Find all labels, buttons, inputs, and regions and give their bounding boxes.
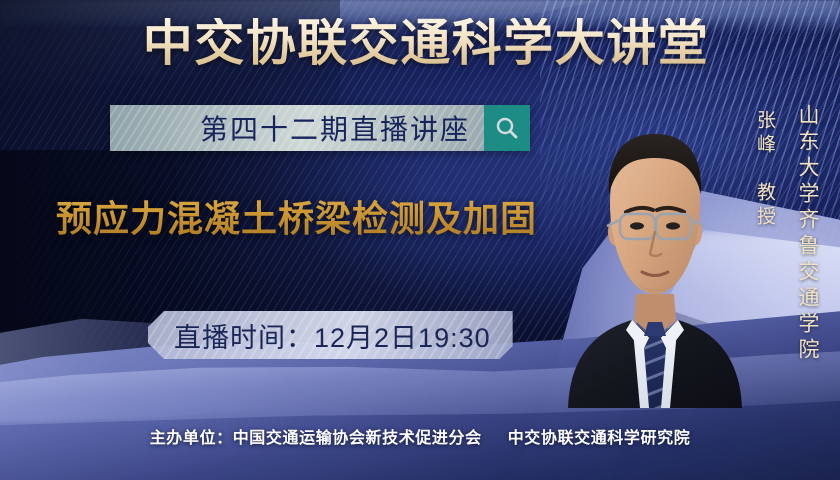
search-button[interactable] xyxy=(484,105,530,151)
lecture-title: 预应力混凝土桥梁检测及加固 xyxy=(56,190,537,242)
footer-organizer: 主办单位：中国交通运输协会新技术促进分会 xyxy=(150,430,482,447)
episode-subtitle-bar: 第四十二期直播讲座 xyxy=(110,105,530,151)
broadcast-time-badge: 直播时间：12月2日19:30 xyxy=(148,311,513,359)
episode-subtitle-label: 第四十二期直播讲座 xyxy=(200,108,484,148)
speaker-name-title: 张峰 教授 xyxy=(751,110,778,230)
broadcast-time-label: 直播时间：12月2日19:30 xyxy=(174,316,491,355)
live-lecture-poster: 中交协联交通科学大讲堂 第四十二期直播讲座 预应力混凝土桥梁检测及加固 直播时间… xyxy=(0,0,840,480)
speaker-portrait xyxy=(560,108,750,408)
episode-subtitle-bar-background: 第四十二期直播讲座 xyxy=(110,105,484,151)
footer: 主办单位：中国交通运输协会新技术促进分会中交协联交通科学研究院 xyxy=(0,424,840,448)
page-title: 中交协联交通科学大讲堂 xyxy=(0,18,840,68)
footer-co-organizer: 中交协联交通科学研究院 xyxy=(508,430,691,447)
search-icon xyxy=(494,115,520,141)
speaker-affiliation: 山东大学齐鲁交通学院 xyxy=(792,104,822,364)
